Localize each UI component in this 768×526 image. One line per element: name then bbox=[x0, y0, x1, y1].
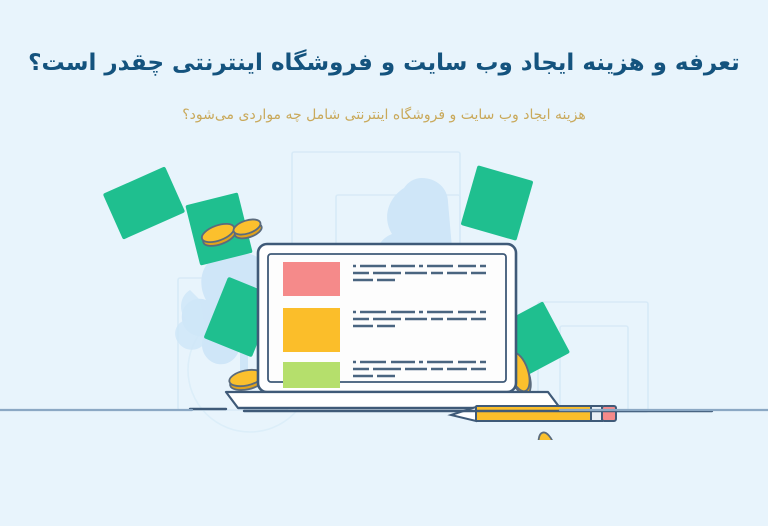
header: تعرفه و هزینه ایجاد وب سایت و فروشگاه ای… bbox=[0, 0, 768, 145]
laptop bbox=[226, 244, 560, 408]
bill-3 bbox=[461, 165, 534, 241]
pencil-body bbox=[476, 406, 591, 421]
content-block-green bbox=[283, 362, 340, 388]
page-root: تعرفه و هزینه ایجاد وب سایت و فروشگاه ای… bbox=[0, 0, 768, 526]
pencil-eraser bbox=[602, 406, 616, 421]
page-subtitle: هزینه ایجاد وب سایت و فروشگاه اینترنتی ش… bbox=[0, 104, 768, 126]
pencil-ferrule bbox=[591, 406, 602, 421]
coin-5 bbox=[535, 431, 559, 440]
page-title: تعرفه و هزینه ایجاد وب سایت و فروشگاه ای… bbox=[0, 48, 768, 78]
content-block-red bbox=[283, 262, 340, 296]
bill-1 bbox=[103, 166, 185, 239]
laptop-money-illustration bbox=[0, 140, 768, 440]
pencil bbox=[451, 406, 616, 421]
content-block-yellow bbox=[283, 308, 340, 352]
